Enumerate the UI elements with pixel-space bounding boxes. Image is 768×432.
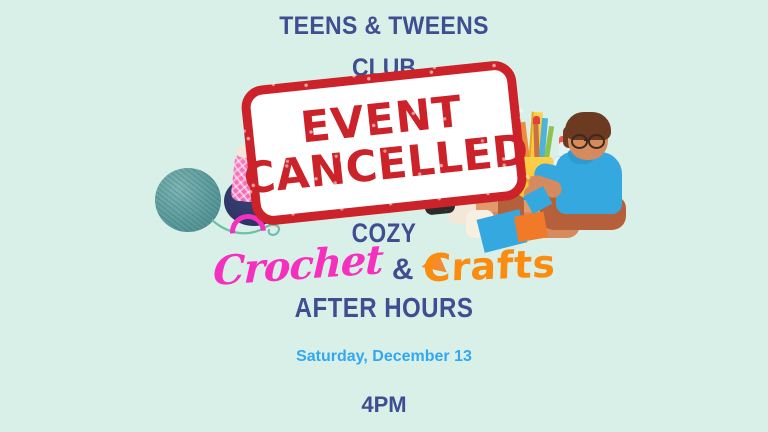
event-poster: GLUE TEENS & TWEENS CLUB COZY Crochet & … xyxy=(0,0,768,432)
glasses-left-lens-icon xyxy=(571,134,588,149)
subtitle-text: AFTER HOURS xyxy=(54,292,714,324)
event-time: 4PM xyxy=(0,392,768,418)
script-crafts: Crafts xyxy=(422,245,556,288)
event-date: Saturday, December 13 xyxy=(0,348,768,366)
headline-line-1: TEENS & TWEENS xyxy=(31,12,738,41)
script-title-row: Crochet & Crafts xyxy=(0,246,768,286)
stamp-text-group: EVENT CANCELLED xyxy=(239,59,528,227)
kicker-text: COZY xyxy=(61,218,706,249)
script-ampersand: & xyxy=(392,255,414,285)
event-cancelled-stamp: EVENT CANCELLED xyxy=(239,59,528,227)
script-crochet: Crochet xyxy=(212,240,383,292)
glasses-right-lens-icon xyxy=(588,134,605,149)
paintbrush-tip-icon xyxy=(533,116,540,124)
glasses-bridge-icon xyxy=(584,139,589,141)
